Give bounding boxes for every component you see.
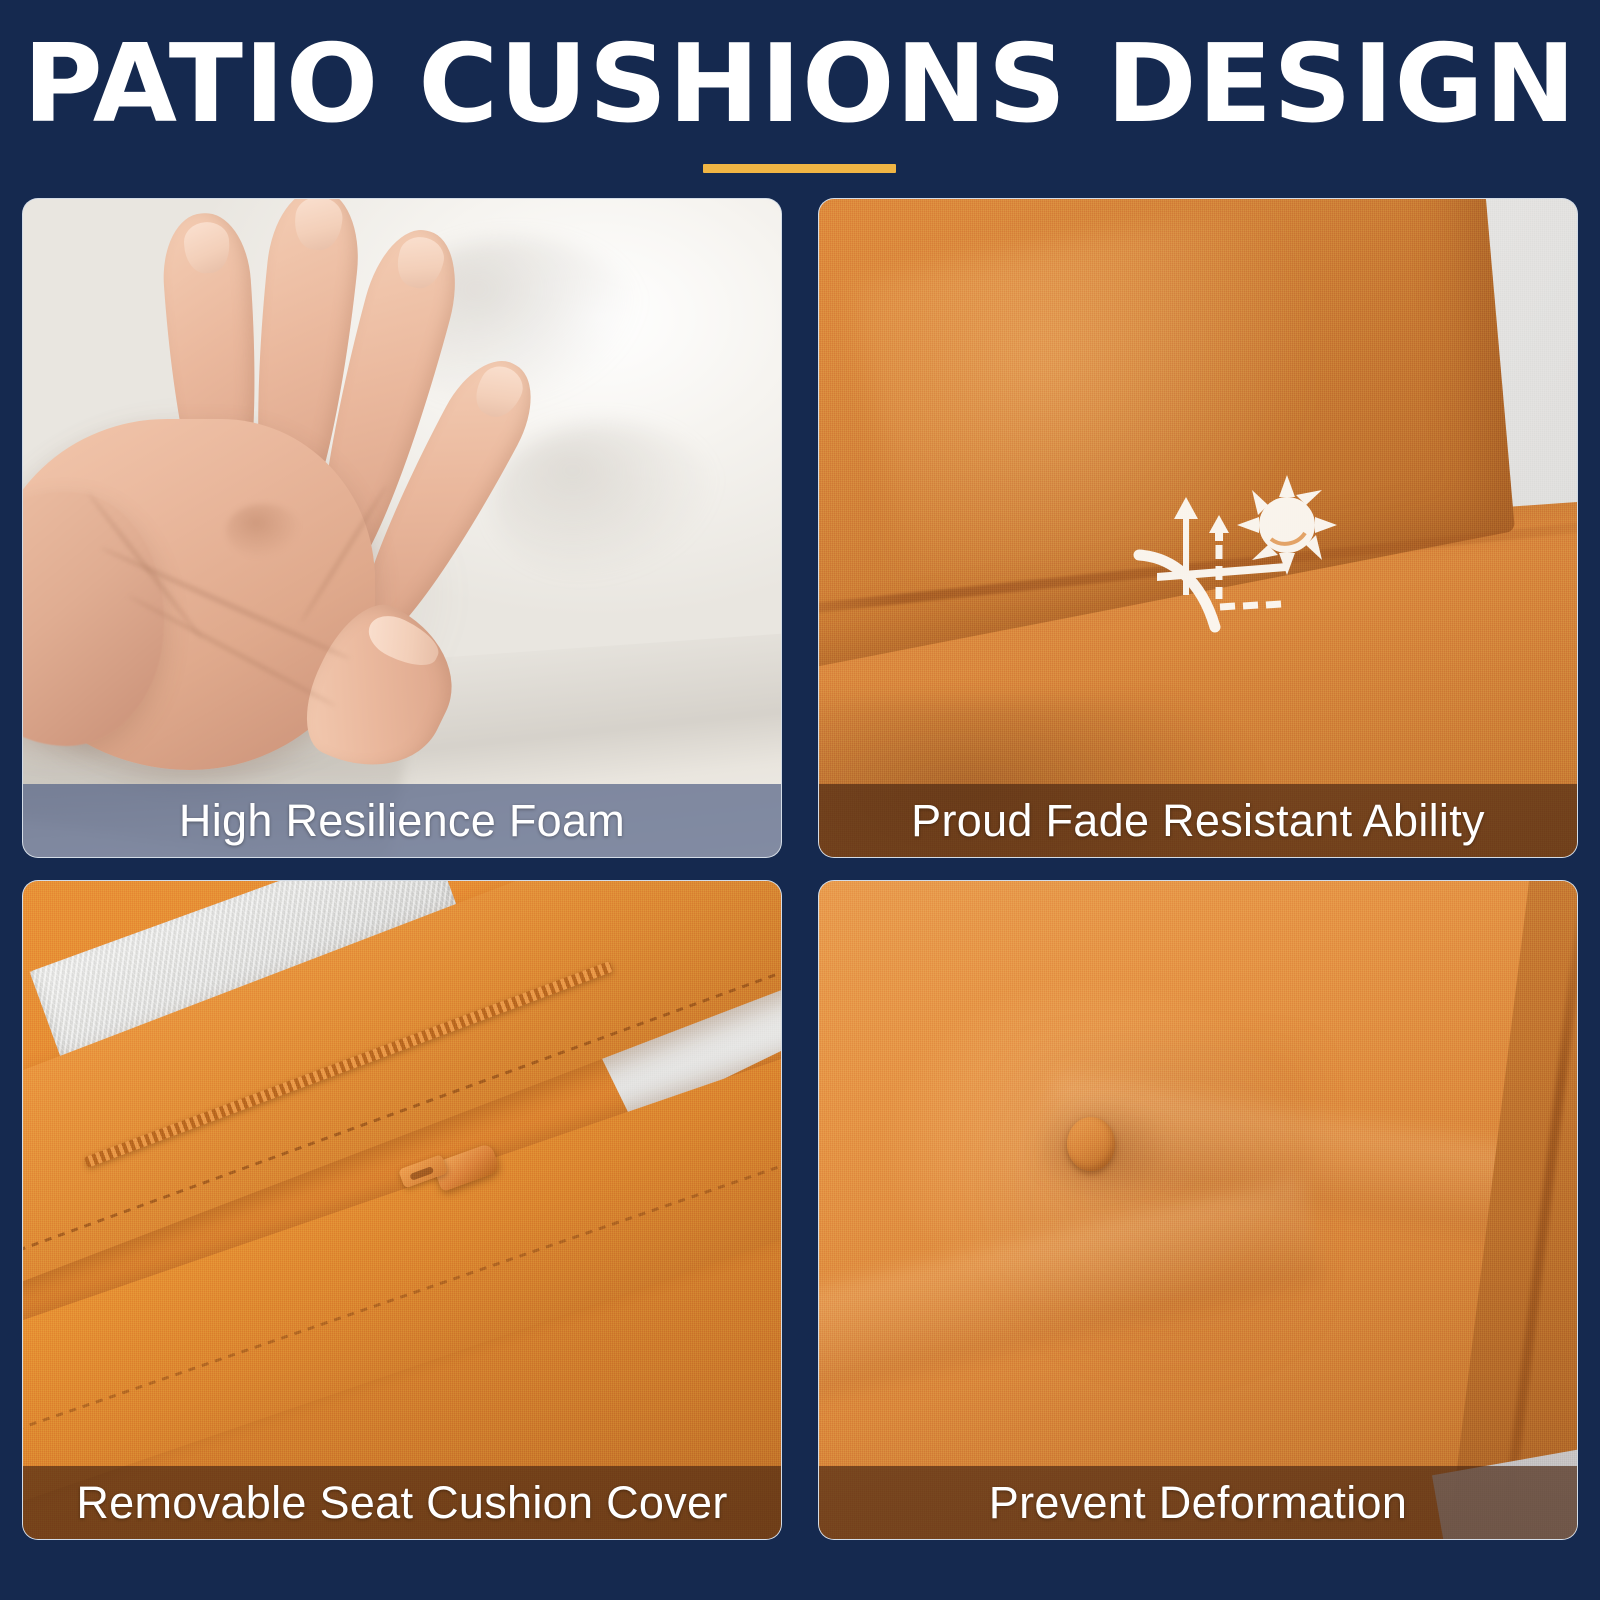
sun-fade-resistance-icon (1119, 467, 1341, 657)
header: PATIO CUSHIONS DESIGN (0, 0, 1600, 198)
zipper-photo (23, 881, 781, 1539)
tufted-cushion-photo (819, 881, 1577, 1539)
feature-tile-fade-resistant[interactable]: Proud Fade Resistant Ability (818, 198, 1578, 858)
title-accent-bar (703, 164, 896, 173)
cushion-fade-photo (819, 199, 1577, 857)
feature-tile-removable-cover[interactable]: Removable Seat Cushion Cover (22, 880, 782, 1540)
feature-tile-prevent-deformation[interactable]: Prevent Deformation (818, 880, 1578, 1540)
feature-tile-high-resilience-foam[interactable]: High Resilience Foam (22, 198, 782, 858)
feature-caption: Removable Seat Cushion Cover (23, 1466, 781, 1539)
feature-caption: High Resilience Foam (23, 784, 781, 857)
hand-illustration (22, 225, 599, 830)
patio-cushions-infographic: PATIO CUSHIONS DESIGN (0, 0, 1600, 1600)
feature-caption: Prevent Deformation (819, 1466, 1577, 1539)
foam-photo (23, 199, 781, 857)
feature-caption: Proud Fade Resistant Ability (819, 784, 1577, 857)
tufting-button (1067, 1117, 1115, 1171)
page-title: PATIO CUSHIONS DESIGN (0, 33, 1600, 137)
